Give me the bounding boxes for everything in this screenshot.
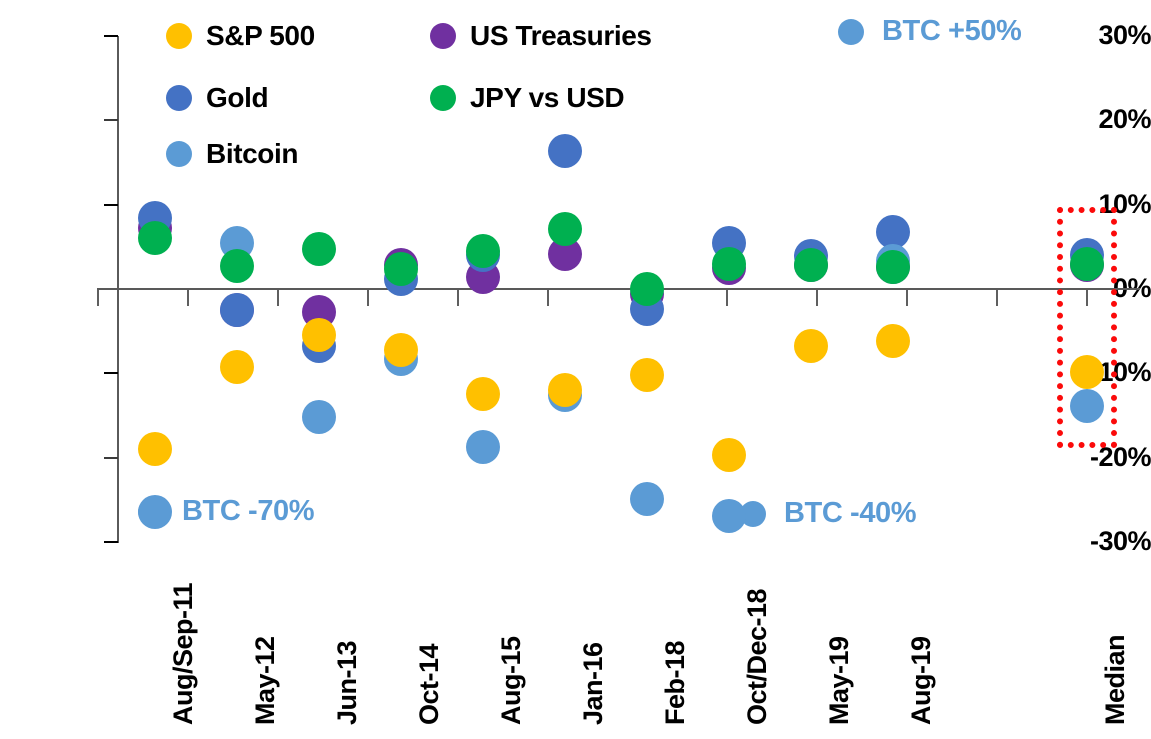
x-tick: [97, 290, 99, 306]
y-tick: [104, 541, 118, 543]
x-tick: [996, 290, 998, 306]
data-point: [220, 350, 254, 384]
legend-item-us-treasuries[interactable]: US Treasuries: [430, 20, 652, 52]
legend-item-bitcoin[interactable]: Bitcoin: [166, 138, 298, 170]
legend-swatch-dot-icon: [430, 23, 456, 49]
x-tick: [277, 290, 279, 306]
callout-btc-plus-50: BTC +50%: [838, 15, 1021, 48]
data-point: [220, 249, 254, 283]
data-point: [876, 250, 910, 284]
callout-label: BTC +50%: [882, 15, 1021, 48]
y-tick: [104, 372, 118, 374]
chart-canvas: 30%20%10%0%-10%-20%-30% Aug/Sep-11May-12…: [0, 0, 1151, 739]
data-point: [548, 134, 582, 168]
legend-label: US Treasuries: [470, 20, 652, 52]
data-point: [466, 234, 500, 268]
data-point: [138, 221, 172, 255]
data-point: [1070, 389, 1104, 423]
x-tick: [547, 290, 549, 306]
x-axis-label: Feb-18: [660, 641, 691, 725]
legend-label: S&P 500: [206, 20, 315, 52]
data-point: [794, 329, 828, 363]
data-point: [466, 430, 500, 464]
callout-label: BTC -70%: [182, 495, 314, 528]
legend-swatch-dot-icon: [166, 141, 192, 167]
x-tick: [906, 290, 908, 306]
x-axis-label: Median: [1100, 635, 1131, 725]
x-tick: [367, 290, 369, 306]
y-tick: [104, 204, 118, 206]
data-point: [548, 212, 582, 246]
data-point: [466, 377, 500, 411]
data-point: [548, 373, 582, 407]
data-point: [794, 248, 828, 282]
zero-baseline: [97, 288, 1140, 290]
legend-swatch-dot-icon: [166, 85, 192, 111]
x-axis-label: Oct/Dec-18: [742, 589, 773, 725]
data-point: [630, 482, 664, 516]
x-axis-label: Aug/Sep-11: [168, 583, 199, 725]
data-point: [876, 324, 910, 358]
x-tick: [457, 290, 459, 306]
data-point: [384, 333, 418, 367]
legend-item-gold[interactable]: Gold: [166, 82, 268, 114]
data-point: [302, 232, 336, 266]
x-tick: [816, 290, 818, 306]
y-tick: [104, 457, 118, 459]
data-point: [220, 293, 254, 327]
legend-label: Gold: [206, 82, 268, 114]
data-point: [1070, 355, 1104, 389]
x-axis-label: Aug-15: [496, 636, 527, 725]
data-point: [712, 499, 746, 533]
data-point: [712, 438, 746, 472]
legend-swatch-dot-icon: [166, 23, 192, 49]
legend-label: Bitcoin: [206, 138, 298, 170]
y-tick-label: -30%: [1059, 528, 1151, 555]
legend-item-jpy-vs-usd[interactable]: JPY vs USD: [430, 82, 624, 114]
x-axis-label: May-12: [250, 636, 281, 725]
data-point: [384, 252, 418, 286]
x-axis-label: Aug-19: [906, 636, 937, 725]
x-axis-label: Oct-14: [414, 644, 445, 725]
y-tick-label: 30%: [1059, 22, 1151, 49]
data-point: [138, 432, 172, 466]
data-point: [1070, 247, 1104, 281]
y-tick: [104, 119, 118, 121]
x-axis-label: May-19: [824, 636, 855, 725]
data-point: [630, 272, 664, 306]
x-axis-label: Jun-13: [332, 641, 363, 725]
legend-swatch-dot-icon: [430, 85, 456, 111]
y-tick: [104, 35, 118, 37]
x-tick: [726, 290, 728, 306]
bitcoin-dot-icon: [838, 19, 864, 45]
y-tick-label: 20%: [1059, 106, 1151, 133]
x-axis-label: Jan-16: [578, 642, 609, 725]
legend-item-s-p-500[interactable]: S&P 500: [166, 20, 315, 52]
data-point: [630, 358, 664, 392]
data-point: [712, 247, 746, 281]
x-tick: [187, 290, 189, 306]
legend-label: JPY vs USD: [470, 82, 624, 114]
callout-btc-minus-40: BTC -40%: [740, 497, 916, 530]
data-point: [302, 400, 336, 434]
callout-label: BTC -40%: [784, 497, 916, 530]
